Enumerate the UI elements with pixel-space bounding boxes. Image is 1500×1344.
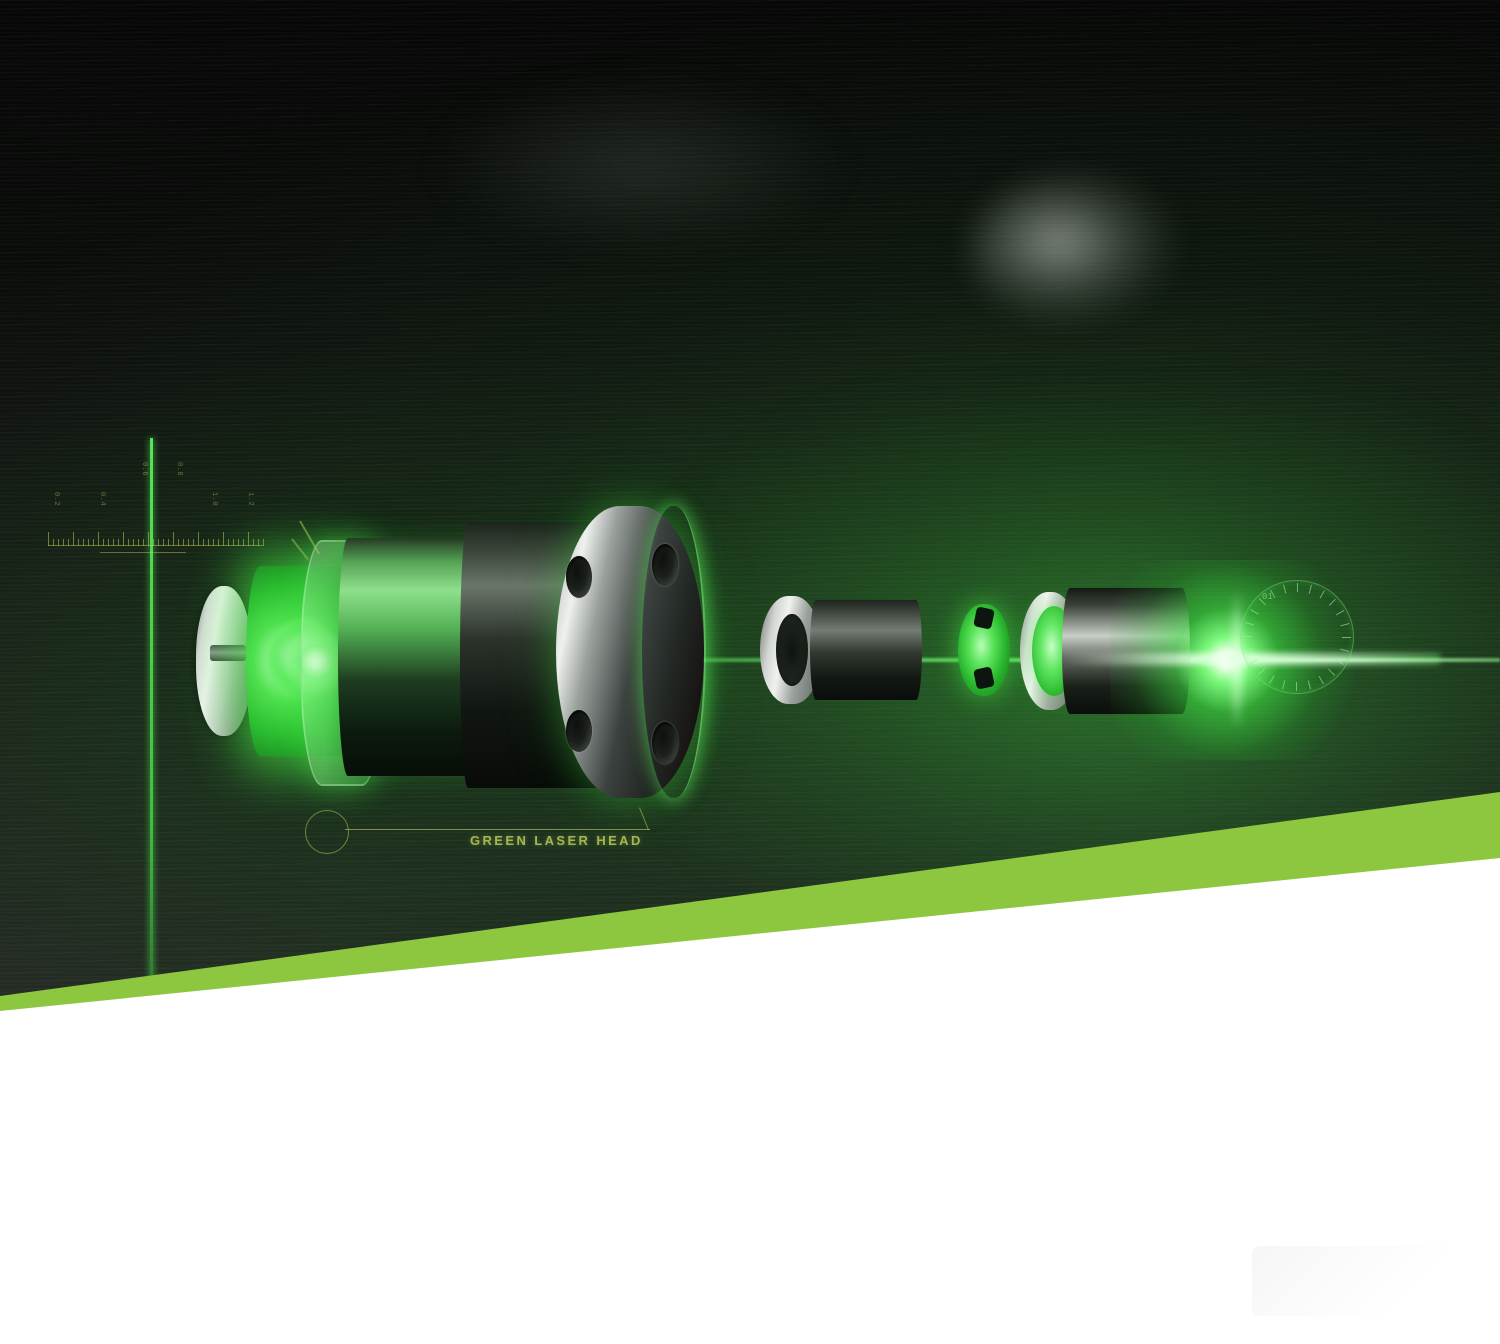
crystal-notch (973, 666, 995, 689)
spacer-ring-bore (776, 614, 808, 686)
ambient-highlight-right (970, 175, 1180, 325)
product-feature-banner: GREEN LASER HEAD 01 0.20.40.60.81.01.2 S… (0, 0, 1500, 1344)
corner-watermark (1252, 1246, 1482, 1316)
flange-bolt-hole (652, 722, 678, 764)
beam-exit-flare-horizontal (1060, 653, 1440, 665)
ambient-highlight-left (430, 80, 850, 250)
flange-bolt-hole (652, 544, 678, 586)
flange-bolt-hole (566, 710, 592, 752)
inner-tube-part (810, 600, 922, 700)
caption-section: Superior Visibility High-precision and s… (0, 1012, 1500, 1344)
end-cap-part (196, 586, 252, 736)
flange-bolt-hole (566, 556, 592, 598)
beam-exit-flare-vertical (1232, 590, 1242, 730)
end-cap-slot (210, 645, 246, 661)
